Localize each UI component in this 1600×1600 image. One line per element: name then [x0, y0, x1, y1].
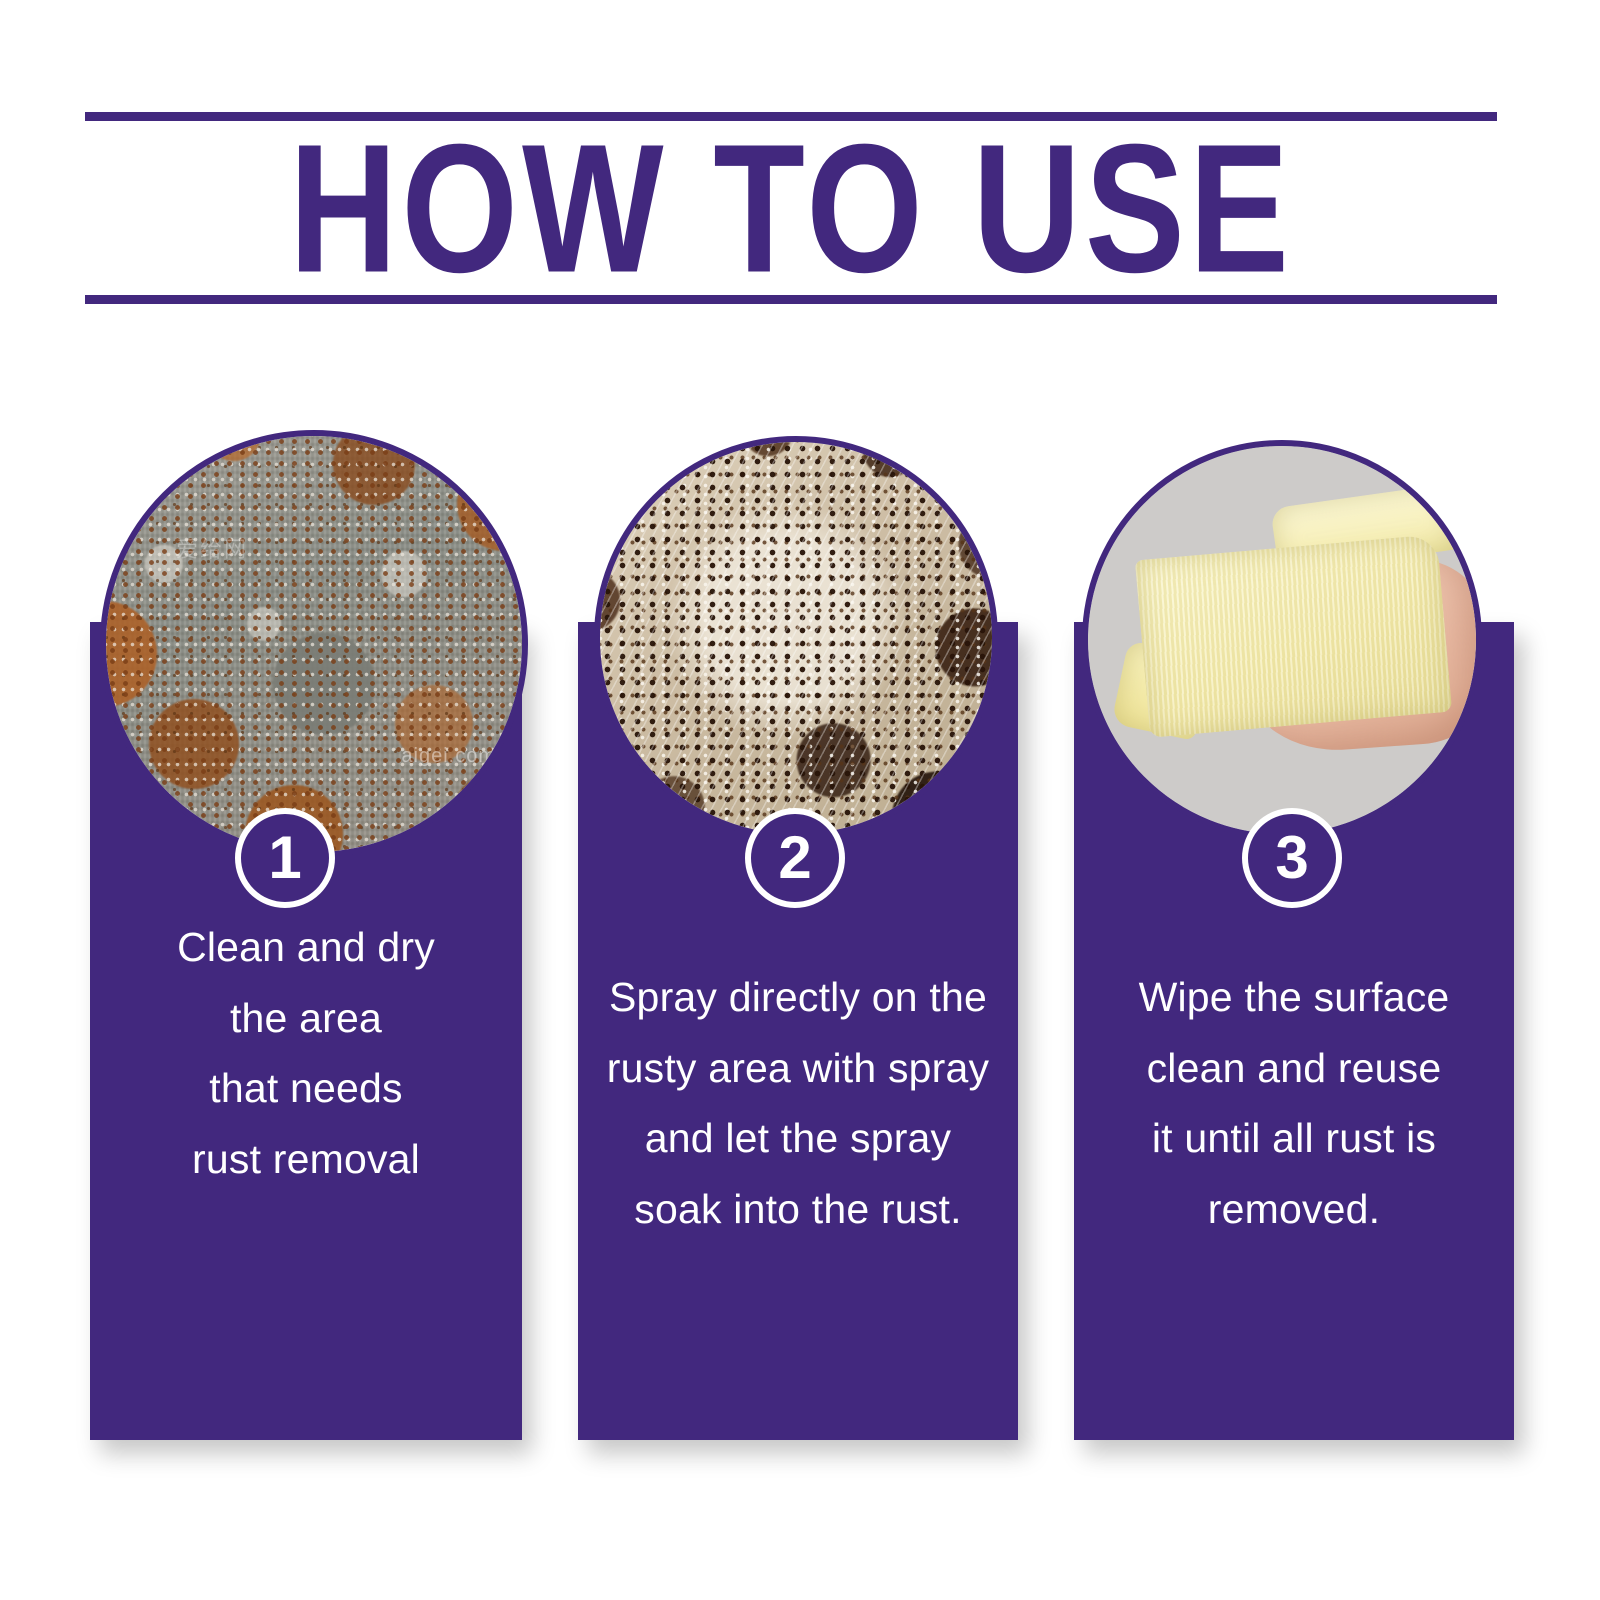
step-3-text: Wipe the surface clean and reuse it unti…	[1082, 962, 1506, 1244]
watermark-cn-text: 爱给网	[176, 532, 248, 564]
step-2-line-1: Spray directly on the	[586, 962, 1010, 1033]
step-1-line-3: that needs	[100, 1053, 512, 1124]
step-badge-3-number: 3	[1275, 828, 1308, 888]
step-1-line-2: the area	[100, 983, 512, 1054]
step-3-line-3: it until all rust is	[1082, 1103, 1506, 1174]
watermark-text: aigei.com	[401, 745, 496, 768]
step-1-image: 爱给网 aigei.com	[100, 430, 528, 858]
step-badge-2: 2	[745, 808, 845, 908]
step-1-line-4: rust removal	[100, 1124, 512, 1195]
rust-speckle-overlay	[106, 436, 522, 852]
microfiber-cloth	[1135, 534, 1452, 738]
step-2-text: Spray directly on the rusty area with sp…	[586, 962, 1010, 1244]
step-2-line-3: and let the spray	[586, 1103, 1010, 1174]
step-1-line-1: Clean and dry	[100, 912, 512, 983]
step-badge-3: 3	[1242, 808, 1342, 908]
step-3-line-2: clean and reuse	[1082, 1033, 1506, 1104]
step-2-line-4: soak into the rust.	[586, 1174, 1010, 1245]
step-badge-1: 1	[235, 808, 335, 908]
step-2-line-2: rusty area with spray	[586, 1033, 1010, 1104]
step-2-image	[594, 436, 998, 840]
step-badge-2-number: 2	[778, 828, 811, 888]
step-1-text: Clean and dry the area that needs rust r…	[100, 912, 512, 1194]
step-3-line-4: removed.	[1082, 1174, 1506, 1245]
spray-streak-overlay	[600, 442, 992, 834]
rusty-metal-surface-photo: 爱给网 aigei.com	[106, 436, 522, 852]
step-3-line-1: Wipe the surface	[1082, 962, 1506, 1033]
steps-container: 爱给网 aigei.com 1 Clean and dry the area t…	[0, 0, 1600, 1600]
step-3-image	[1082, 440, 1482, 840]
step-badge-1-number: 1	[268, 828, 301, 888]
infographic-page: HOW TO USE 爱给网 aigei.com 1 Clean and dry…	[0, 0, 1600, 1600]
hand-wiping-with-yellow-cloth-photo	[1088, 446, 1476, 834]
spray-on-rusty-surface-photo	[600, 442, 992, 834]
